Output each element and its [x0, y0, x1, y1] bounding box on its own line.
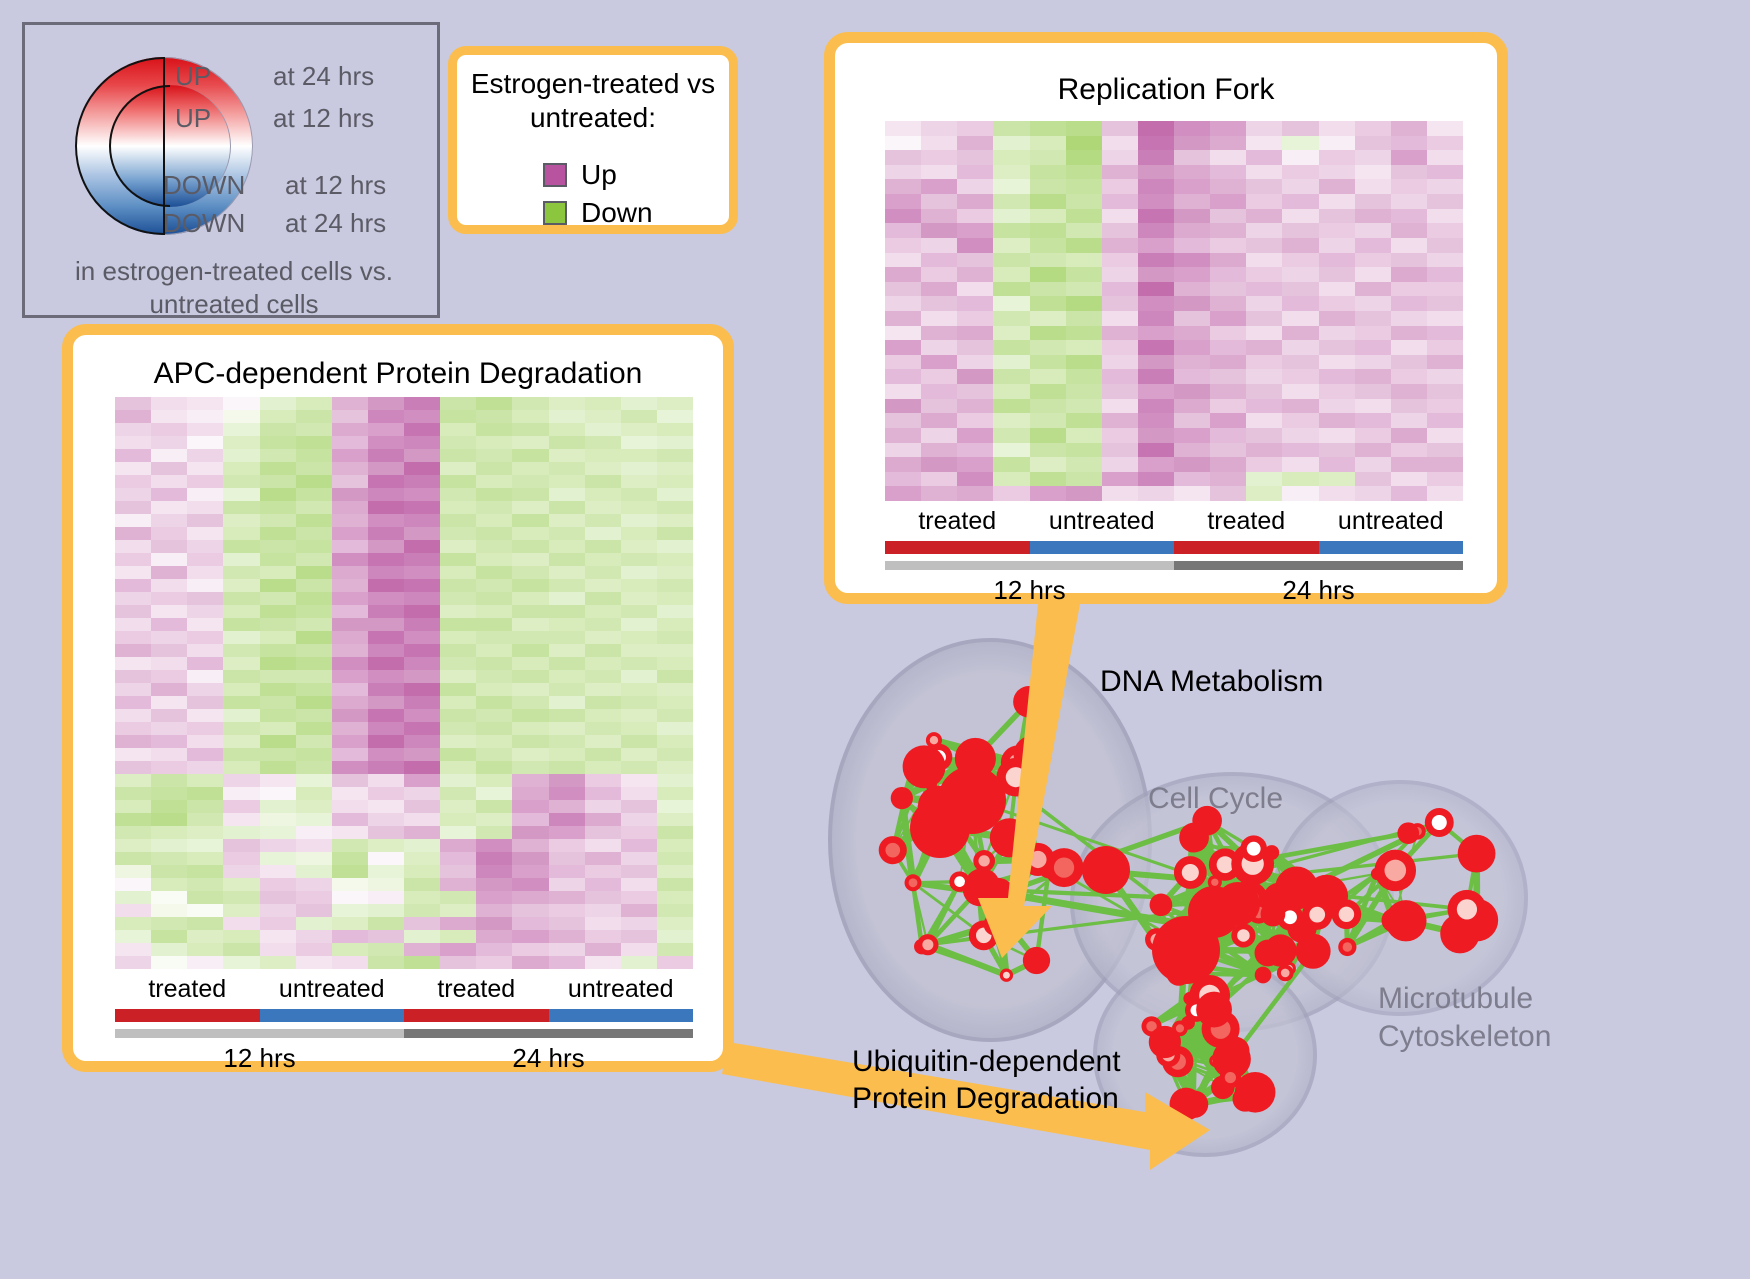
network-node[interactable] — [1240, 835, 1267, 862]
heatmap-cell — [1282, 136, 1318, 151]
heatmap-cell — [885, 267, 921, 282]
heatmap-cell — [151, 579, 187, 592]
network-node[interactable] — [1213, 888, 1238, 913]
network-edge — [1225, 865, 1280, 900]
heatmap-cell — [476, 878, 512, 891]
network-node[interactable] — [1397, 822, 1419, 844]
network-node[interactable] — [926, 732, 942, 748]
heatmap-cell — [549, 605, 585, 618]
heatmap-cell — [260, 579, 296, 592]
network-edge — [1192, 845, 1394, 920]
heatmap-cell — [223, 930, 259, 943]
heatmap-cell — [585, 397, 621, 410]
network-node[interactable] — [990, 818, 1029, 857]
heatmap-cell — [1282, 179, 1318, 194]
heatmap-cell — [549, 865, 585, 878]
network-node[interactable] — [1152, 916, 1220, 984]
network-node[interactable] — [1082, 846, 1130, 894]
heatmap-cell — [368, 475, 404, 488]
network-node[interactable] — [996, 758, 1035, 797]
network-node[interactable] — [1221, 1017, 1237, 1033]
network-node[interactable] — [1141, 1016, 1161, 1036]
network-node[interactable] — [1166, 961, 1191, 986]
network-node[interactable] — [1209, 1055, 1222, 1068]
network-node[interactable] — [1277, 904, 1304, 931]
heatmap-cell — [1174, 267, 1210, 282]
heatmap-cell — [657, 592, 693, 605]
network-node[interactable] — [1001, 746, 1035, 780]
network-node[interactable] — [926, 744, 953, 771]
heatmap-cell — [476, 657, 512, 670]
network-node[interactable] — [1264, 934, 1296, 966]
treatment-bar-replication — [885, 541, 1463, 554]
network-node[interactable] — [1283, 962, 1296, 975]
heatmap-cell — [1427, 238, 1463, 253]
heatmap-cell — [585, 956, 621, 969]
network-edge — [913, 828, 940, 883]
network-edge — [1281, 888, 1297, 951]
heatmap-cell — [957, 209, 993, 224]
heatmap-cell — [223, 657, 259, 670]
heatmap-cell — [404, 423, 440, 436]
heatmap-cell — [332, 449, 368, 462]
network-node[interactable] — [1209, 848, 1241, 880]
heatmap-cell — [512, 709, 548, 722]
network-node[interactable] — [1211, 1076, 1234, 1099]
network-edge — [1204, 914, 1273, 950]
network-edge — [1215, 854, 1477, 883]
heatmap-cell — [621, 826, 657, 839]
network-edge — [1036, 867, 1049, 961]
heatmap-cell — [512, 449, 548, 462]
heatmap-cell — [1319, 165, 1355, 180]
heatmap-cell — [115, 761, 151, 774]
network-edge — [1204, 912, 1259, 950]
heatmap-cell — [1138, 311, 1174, 326]
heatmap-cell — [921, 311, 957, 326]
network-node[interactable] — [879, 836, 907, 864]
heatmap-cell — [223, 943, 259, 956]
heatmap-cell — [957, 253, 993, 268]
network-edge — [1259, 900, 1280, 913]
network-edge — [1188, 1023, 1223, 1088]
network-edge — [1207, 821, 1254, 849]
heatmap-cell — [621, 449, 657, 462]
node-core — [1242, 853, 1264, 875]
network-node[interactable] — [1174, 856, 1207, 889]
heatmap-cell — [151, 592, 187, 605]
network-edge — [1188, 1023, 1230, 1078]
heatmap-cell — [440, 774, 476, 787]
node-ring — [1229, 1061, 1245, 1077]
heatmap-cell — [187, 631, 223, 644]
network-node[interactable] — [1181, 1016, 1195, 1030]
network-node[interactable] — [984, 913, 1006, 935]
heatmap-cell — [1030, 326, 1066, 341]
network-node[interactable] — [1188, 940, 1218, 970]
node-ring — [1208, 875, 1222, 889]
heatmap-cell — [621, 930, 657, 943]
estrogen-legend-title: Estrogen-treated vs untreated: — [457, 67, 729, 135]
network-node[interactable] — [1220, 1067, 1241, 1088]
heatmap-cell — [1427, 136, 1463, 151]
heatmap-cell — [332, 683, 368, 696]
heatmap-cell — [332, 566, 368, 579]
network-node[interactable] — [1255, 940, 1282, 967]
heatmap-cell — [1246, 253, 1282, 268]
heatmap-cell — [621, 800, 657, 813]
heatmap-cell — [621, 878, 657, 891]
network-edge — [984, 861, 998, 895]
network-edge — [1317, 915, 1406, 921]
heatmap-cell — [368, 423, 404, 436]
network-node[interactable] — [949, 871, 970, 892]
node-core — [1151, 934, 1163, 946]
heatmap-cell — [512, 553, 548, 566]
network-node[interactable] — [1014, 735, 1052, 773]
heatmap-cell — [296, 618, 332, 631]
node-core — [1179, 823, 1209, 853]
network-node[interactable] — [1021, 843, 1054, 876]
heatmap-cell — [368, 592, 404, 605]
heatmap-cell — [1066, 413, 1102, 428]
network-node[interactable] — [1409, 823, 1426, 840]
heatmap-cell — [223, 917, 259, 930]
heatmap-cell — [476, 618, 512, 631]
node-core — [1264, 845, 1279, 860]
network-node[interactable] — [1277, 965, 1294, 982]
heatmap-cell — [1355, 311, 1391, 326]
network-node[interactable] — [964, 868, 1000, 904]
network-node[interactable] — [1302, 899, 1332, 929]
network-node[interactable] — [1247, 901, 1269, 923]
network-edge — [1394, 909, 1467, 920]
heatmap-cell — [921, 179, 957, 194]
network-node[interactable] — [920, 820, 937, 837]
heatmap-cell — [1138, 223, 1174, 238]
heatmap-cell — [885, 179, 921, 194]
heatmap-cell — [368, 943, 404, 956]
node-core — [1458, 835, 1496, 873]
heatmap-cell — [1427, 340, 1463, 355]
heatmap-cell — [1319, 296, 1355, 311]
heatmap-cell — [549, 475, 585, 488]
network-edge — [1229, 1025, 1255, 1092]
heatmap-cell — [1174, 179, 1210, 194]
network-node[interactable] — [1440, 914, 1479, 953]
node-ring — [1209, 1055, 1222, 1068]
network-node[interactable] — [1332, 899, 1362, 929]
network-node[interactable] — [1447, 890, 1486, 929]
network-node[interactable] — [1231, 881, 1267, 917]
network-node[interactable] — [955, 738, 996, 779]
network-edge — [1178, 999, 1190, 1062]
heatmap-cell — [404, 436, 440, 449]
network-edge — [1009, 763, 1018, 838]
heatmap-cell — [404, 865, 440, 878]
network-node[interactable] — [1013, 686, 1045, 718]
network-node[interactable] — [1381, 908, 1405, 932]
network-node[interactable] — [1172, 1020, 1188, 1036]
network-node[interactable] — [1212, 1040, 1251, 1079]
heatmap-cell — [549, 501, 585, 514]
heatmap-cell — [657, 579, 693, 592]
network-node[interactable] — [938, 766, 1006, 834]
network-node[interactable] — [973, 850, 995, 872]
network-edge — [1225, 864, 1253, 865]
heatmap-cell — [404, 826, 440, 839]
network-node[interactable] — [1181, 1091, 1208, 1118]
colorwheel-state-up-12: UP — [175, 103, 211, 134]
network-node[interactable] — [969, 920, 999, 950]
network-node[interactable] — [1161, 945, 1198, 982]
network-node[interactable] — [1229, 1061, 1245, 1077]
heatmap-cell — [332, 696, 368, 709]
network-edge — [1198, 914, 1273, 944]
network-edge — [1290, 888, 1297, 917]
network-node[interactable] — [1235, 1072, 1276, 1113]
heatmap-cell — [115, 566, 151, 579]
network-edge — [1273, 896, 1327, 914]
network-node[interactable] — [1234, 880, 1264, 910]
node-ring — [1277, 965, 1294, 982]
heatmap-cell — [657, 878, 693, 891]
network-edge — [1156, 940, 1178, 974]
network-node[interactable] — [1231, 842, 1274, 885]
heatmap-cell — [621, 956, 657, 969]
heatmap-cell — [1174, 355, 1210, 370]
node-core — [903, 745, 946, 788]
heatmap-cell — [1138, 150, 1174, 165]
network-edge — [1215, 849, 1254, 883]
node-core — [1212, 1058, 1219, 1065]
heatmap-cell — [296, 436, 332, 449]
network-node[interactable] — [1287, 914, 1316, 943]
network-edge — [1250, 900, 1313, 952]
heatmap-cell — [476, 943, 512, 956]
network-edge — [1152, 1026, 1195, 1104]
network-edge — [913, 883, 928, 945]
network-node[interactable] — [1000, 969, 1013, 982]
node-core — [1237, 929, 1250, 942]
network-node[interactable] — [917, 934, 938, 955]
node-ring — [1232, 1086, 1257, 1111]
heatmap-cell — [404, 709, 440, 722]
network-node[interactable] — [1458, 835, 1496, 873]
heatmap-cell — [993, 355, 1029, 370]
network-node[interactable] — [1149, 1026, 1181, 1058]
network-node[interactable] — [925, 778, 937, 790]
heatmap-cell — [1391, 209, 1427, 224]
network-node[interactable] — [903, 745, 946, 788]
network-node[interactable] — [1194, 941, 1212, 959]
network-node[interactable] — [1156, 1043, 1180, 1067]
heatmap-cell — [1210, 267, 1246, 282]
network-node[interactable] — [1456, 899, 1499, 942]
network-node[interactable] — [1231, 923, 1255, 947]
heatmap-cell — [187, 618, 223, 631]
network-node[interactable] — [918, 786, 958, 826]
network-edge — [1192, 845, 1225, 864]
network-edge — [1467, 854, 1477, 910]
network-node[interactable] — [1264, 845, 1279, 860]
heatmap-cell — [621, 436, 657, 449]
network-edge — [984, 895, 998, 935]
heatmap-cell — [621, 475, 657, 488]
heatmap-cell — [1030, 267, 1066, 282]
node-core — [1240, 890, 1259, 909]
heatmap-cell — [187, 709, 223, 722]
network-node[interactable] — [1202, 1010, 1240, 1048]
node-core — [925, 778, 937, 790]
network-edge — [1194, 821, 1207, 838]
network-node[interactable] — [1338, 938, 1356, 956]
network-node[interactable] — [1196, 992, 1232, 1028]
network-node[interactable] — [1185, 838, 1199, 852]
heatmap-cell — [151, 839, 187, 852]
network-edge — [1006, 960, 1036, 975]
network-node[interactable] — [1261, 902, 1286, 927]
network-node[interactable] — [1275, 867, 1318, 910]
heatmap-cell — [512, 475, 548, 488]
network-node[interactable] — [1183, 992, 1196, 1005]
network-node[interactable] — [1162, 1046, 1193, 1077]
heatmap-cell — [223, 774, 259, 787]
network-node[interactable] — [1188, 886, 1240, 938]
heatmap-cell — [440, 657, 476, 670]
network-node[interactable] — [963, 872, 997, 906]
heatmap-cell — [404, 592, 440, 605]
network-node[interactable] — [1185, 999, 1208, 1022]
heatmap-cell — [1427, 194, 1463, 209]
network-node[interactable] — [1187, 933, 1210, 956]
network-node[interactable] — [1150, 893, 1173, 916]
heatmap-cell — [368, 618, 404, 631]
network-node[interactable] — [1232, 1086, 1257, 1111]
heatmap-cell — [404, 540, 440, 553]
heatmap-cell — [1066, 165, 1102, 180]
network-node[interactable] — [1385, 900, 1426, 941]
heatmap-cell — [993, 340, 1029, 355]
network-node[interactable] — [1296, 934, 1331, 969]
heatmap-cell — [332, 514, 368, 527]
heatmap-cell — [368, 501, 404, 514]
heatmap-cell — [512, 514, 548, 527]
network-node[interactable] — [1425, 808, 1454, 837]
network-node[interactable] — [1038, 855, 1062, 879]
heatmap-cell — [260, 917, 296, 930]
heatmap-cell — [296, 475, 332, 488]
network-node[interactable] — [1263, 882, 1298, 917]
network-node[interactable] — [1255, 967, 1272, 984]
node-core — [1150, 893, 1173, 916]
network-edge — [1281, 896, 1327, 950]
heatmap-cell — [1319, 472, 1355, 487]
heatmap-cell — [187, 865, 223, 878]
heatmap-cell — [957, 238, 993, 253]
network-node[interactable] — [980, 878, 1014, 912]
network-node[interactable] — [1371, 868, 1383, 880]
node-core — [930, 736, 938, 744]
network-node[interactable] — [910, 798, 970, 858]
network-node[interactable] — [1221, 1037, 1249, 1065]
heatmap-cell — [260, 462, 296, 475]
node-ring — [996, 758, 1035, 797]
heatmap-cell — [657, 644, 693, 657]
heatmap-cell — [657, 553, 693, 566]
network-edge — [913, 883, 984, 936]
node-core — [1188, 940, 1218, 970]
network-edge — [940, 828, 998, 895]
heatmap-cell — [1210, 121, 1246, 136]
heatmap-cell — [223, 709, 259, 722]
network-node[interactable] — [1179, 823, 1209, 853]
colorwheel-caption: in estrogen-treated cells vs. untreated … — [25, 255, 443, 322]
network-node[interactable] — [1216, 882, 1260, 926]
network-node[interactable] — [1189, 975, 1230, 1016]
network-node[interactable] — [1170, 1088, 1203, 1121]
network-node[interactable] — [1045, 848, 1084, 887]
network-edge — [1317, 874, 1377, 915]
node-core — [1170, 1053, 1186, 1069]
node-ring — [969, 920, 999, 950]
node-core — [1271, 891, 1289, 909]
heatmap-cell — [404, 956, 440, 969]
heatmap-cell — [260, 618, 296, 631]
heatmap-cell — [585, 696, 621, 709]
heatmap-cell — [885, 486, 921, 501]
heatmap-cell — [404, 878, 440, 891]
heatmap-cell — [440, 501, 476, 514]
node-core — [1176, 1024, 1184, 1032]
heatmap-cell — [260, 735, 296, 748]
network-edge — [1225, 864, 1252, 900]
heatmap-cell — [223, 787, 259, 800]
heatmap-cell — [957, 399, 993, 414]
network-node[interactable] — [1145, 928, 1168, 951]
heatmap-cell — [404, 514, 440, 527]
heatmap-cell — [1138, 472, 1174, 487]
network-node[interactable] — [905, 874, 922, 891]
network-node[interactable] — [905, 757, 919, 771]
node-ring — [1338, 938, 1356, 956]
network-node[interactable] — [1375, 850, 1417, 892]
network-node[interactable] — [1187, 920, 1200, 933]
network-edge — [1195, 1078, 1231, 1105]
node-ring — [1240, 835, 1267, 862]
heatmap-cell — [512, 696, 548, 709]
network-node[interactable] — [914, 939, 930, 955]
cluster-halo-ubiquitin — [1095, 955, 1315, 1155]
node-core — [1183, 992, 1196, 1005]
node-core — [1029, 851, 1046, 868]
network-node[interactable] — [1023, 947, 1050, 974]
heatmap-cell — [187, 904, 223, 917]
heatmap-cell — [549, 813, 585, 826]
network-edge — [1216, 1061, 1223, 1088]
heatmap-cell — [885, 428, 921, 443]
heatmap-cell — [260, 839, 296, 852]
network-node[interactable] — [1208, 875, 1222, 889]
heatmap-cell — [440, 735, 476, 748]
network-node[interactable] — [891, 787, 913, 809]
heatmap-cell — [885, 340, 921, 355]
heatmap-cell — [115, 618, 151, 631]
network-edge — [980, 889, 998, 895]
node-ring — [1202, 1010, 1240, 1048]
network-node[interactable] — [1305, 875, 1348, 918]
heatmap-cell — [476, 670, 512, 683]
